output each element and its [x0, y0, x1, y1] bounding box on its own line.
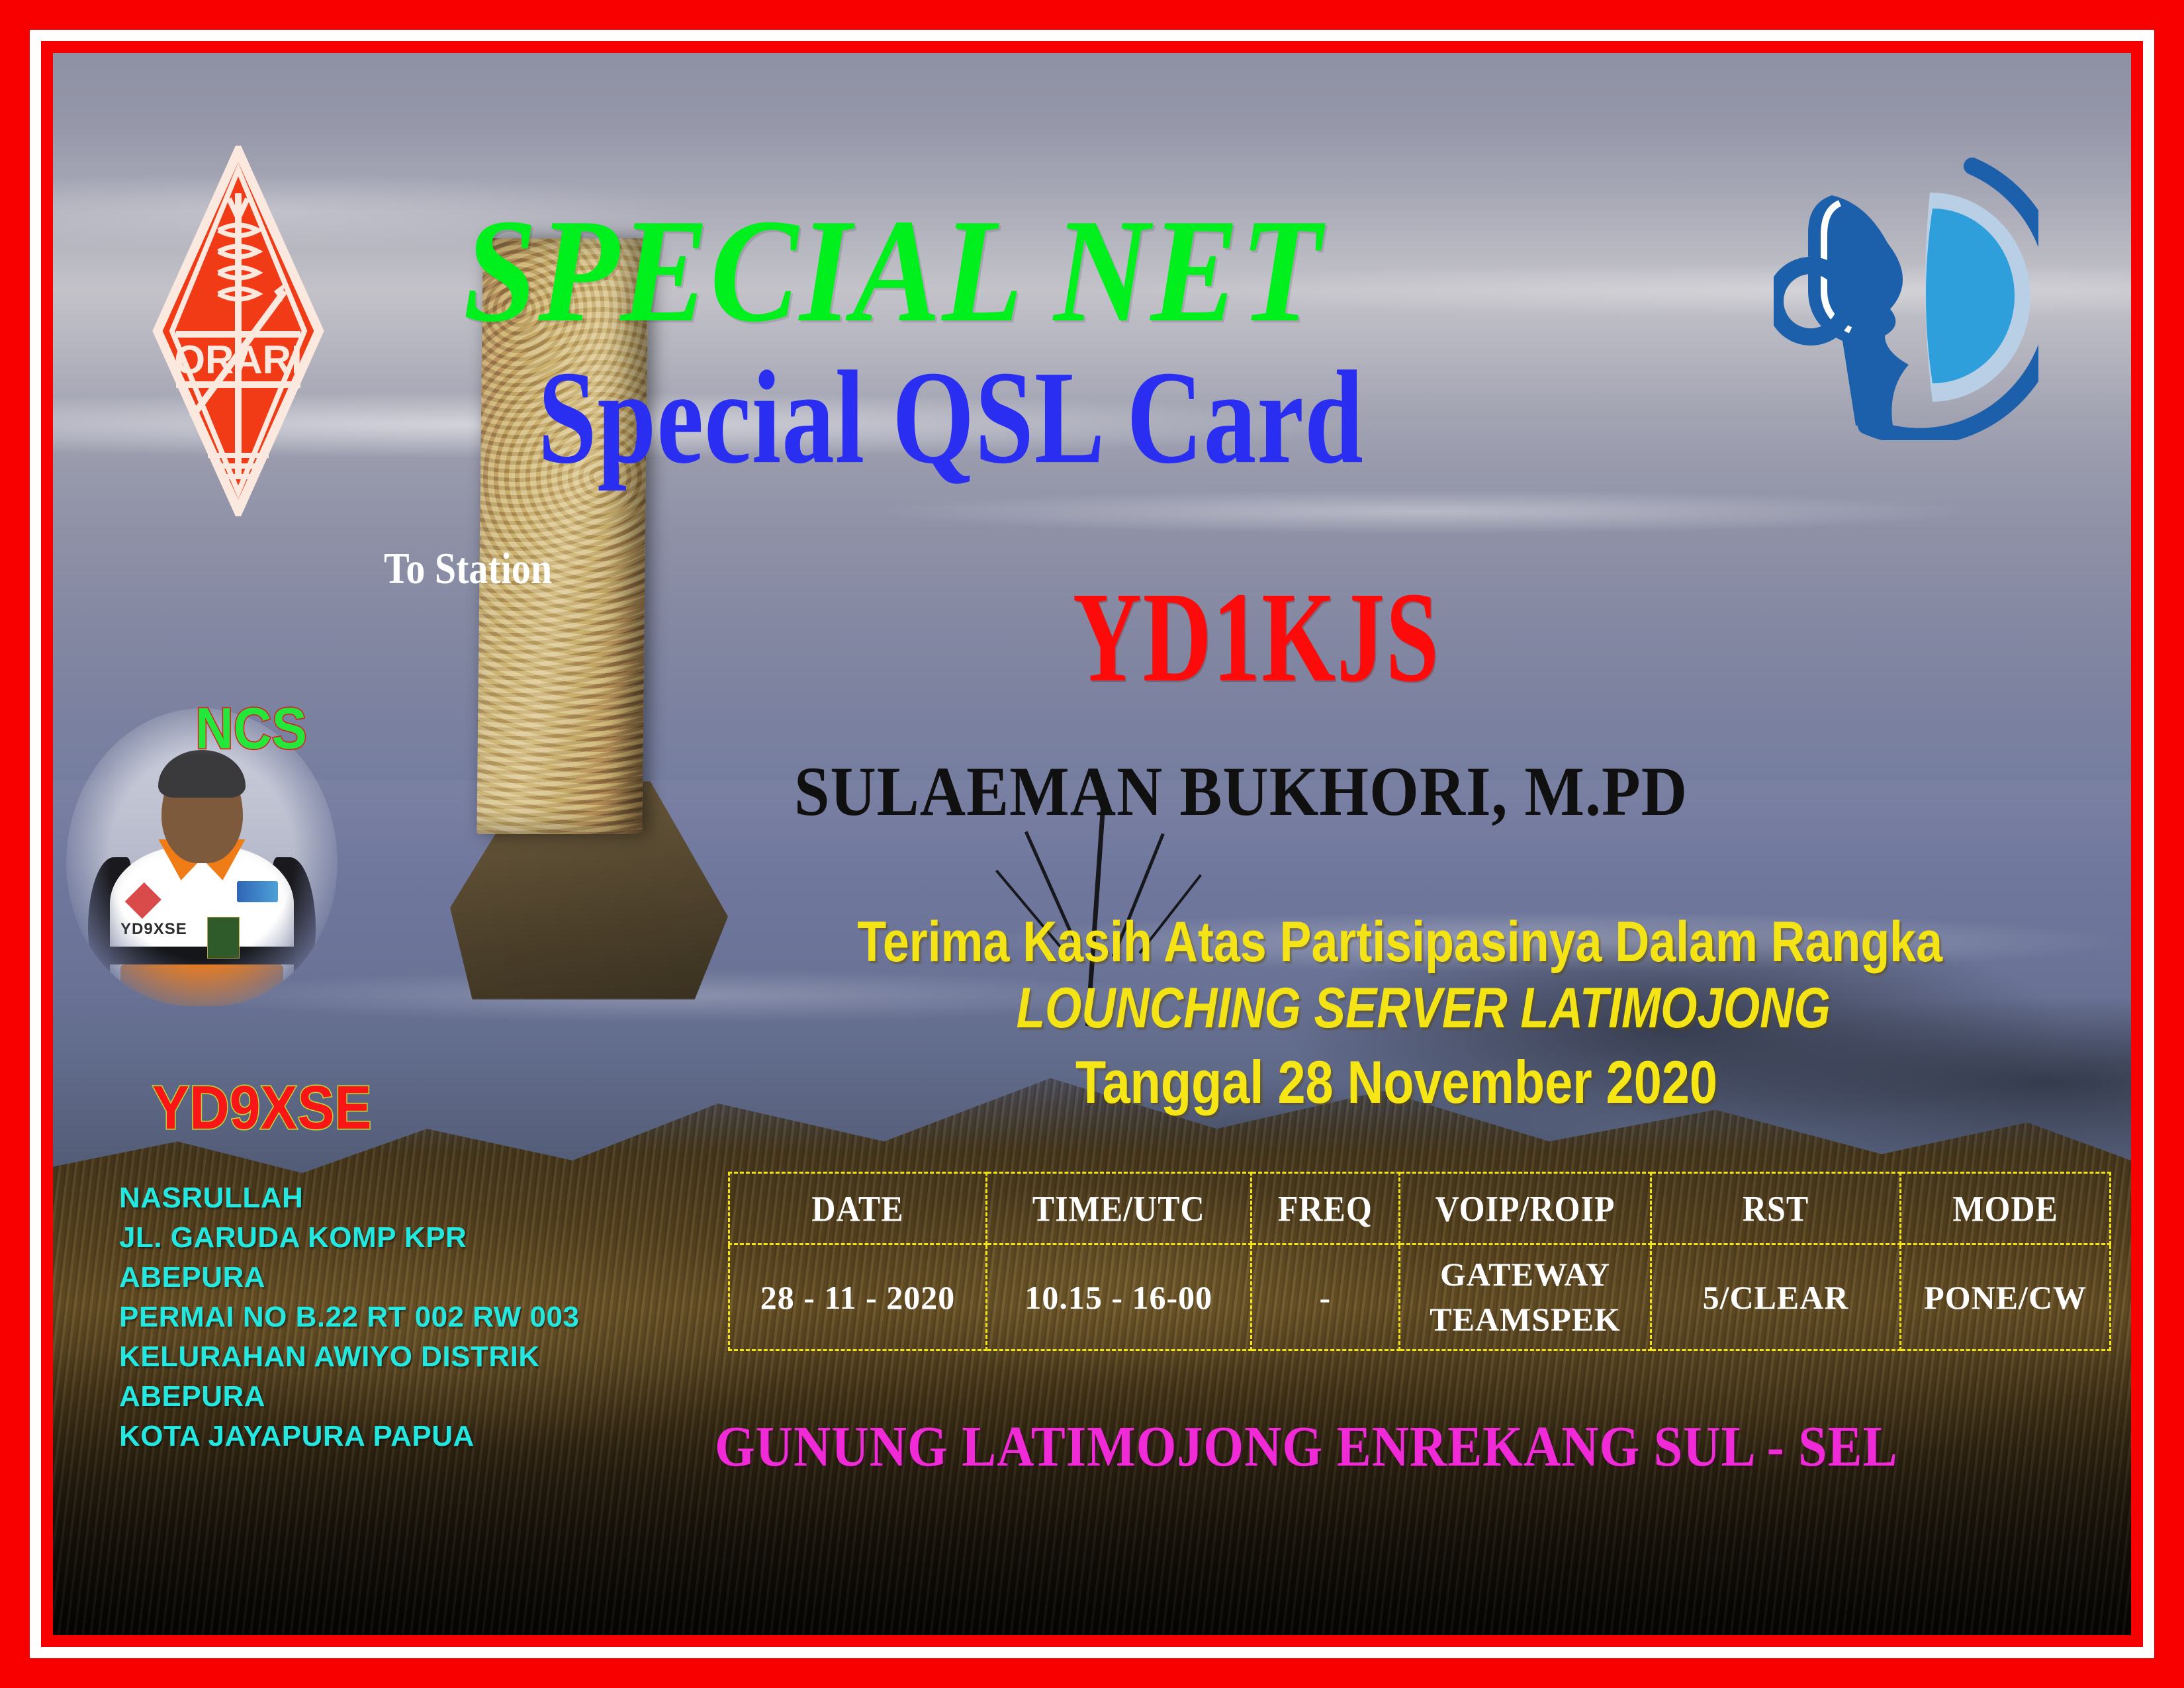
cell-date: 28 - 11 - 2020 [729, 1244, 987, 1350]
cell-voip-line1: GATEWAY [1400, 1252, 1650, 1297]
card-photo-area: ORARI [53, 53, 2131, 1635]
column-header-time: TIME/UTC [987, 1169, 1251, 1248]
location-caption: GUNUNG LATIMOJONG ENREKANG SUL - SEL [715, 1413, 1898, 1480]
cell-mode: PONE/CW [1901, 1244, 2111, 1350]
orari-logo-text: ORARI [174, 338, 302, 382]
column-header-mode: MODE [1901, 1169, 2111, 1248]
motto-text: "AMATIR RADIO ADALAH PROGRESIVE" [153, 1630, 1153, 1635]
thanks-line-1: Terima Kasih Atas Partisipasinya Dalam R… [857, 909, 1942, 974]
address-line: NASRULLAH [119, 1178, 579, 1218]
address-line: ABEPURA [119, 1258, 579, 1297]
qso-log-table: DATE TIME/UTC FREQ VOIP/ROIP RST MODE 28… [728, 1172, 2111, 1351]
cell-rst: 5/CLEAR [1651, 1244, 1900, 1350]
thanks-line-3-date: Tanggal 28 November 2020 [1075, 1048, 1717, 1118]
column-header-voip: VOIP/ROIP [1400, 1169, 1651, 1248]
mailing-address-block: NASRULLAH JL. GARUDA KOMP KPR ABEPURA PE… [119, 1178, 579, 1456]
thanks-line-2-event: LOUNCHING SERVER LATIMOJONG [1017, 975, 1831, 1041]
column-header-freq: FREQ [1251, 1169, 1400, 1248]
operator-name: SULAEMAN BUKHORI, M.PD [794, 751, 1688, 831]
address-line: ABEPURA [119, 1377, 579, 1417]
ncs-label: NCS [195, 695, 307, 762]
headset-profile-logo-icon [1774, 156, 2038, 440]
page-title-special-net: SPECIAL NET [463, 186, 1322, 355]
to-station-label: To Station [384, 543, 552, 594]
orari-logo-icon: ORARI [152, 146, 324, 516]
cell-voip: GATEWAY TEAMSPEK [1400, 1244, 1651, 1350]
cell-voip-line2: TEAMSPEK [1400, 1297, 1650, 1342]
address-line: KOTA JAYAPURA PAPUA [119, 1417, 579, 1456]
qsl-card: ORARI [0, 0, 2184, 1688]
recipient-callsign: YD1KJS [1073, 563, 1440, 712]
column-header-date: DATE [729, 1169, 987, 1248]
portrait-uniform-callsign: YD9XSE [120, 920, 187, 939]
cell-time: 10.15 - 16-00 [987, 1244, 1251, 1350]
ncs-callsign: YD9XSE [152, 1072, 372, 1143]
address-line: JL. GARUDA KOMP KPR [119, 1218, 579, 1258]
table-row: 28 - 11 - 2020 10.15 - 16-00 - GATEWAY T… [729, 1244, 2111, 1350]
column-header-rst: RST [1651, 1169, 1900, 1248]
address-line: KELURAHAN AWIYO DISTRIK [119, 1337, 579, 1377]
page-subtitle-special-qsl: Special QSL Card [538, 342, 1364, 495]
cell-freq: - [1251, 1244, 1400, 1350]
address-line: PERMAI NO B.22 RT 002 RW 003 [119, 1297, 579, 1337]
table-header-row: DATE TIME/UTC FREQ VOIP/ROIP RST MODE [729, 1173, 2111, 1244]
website-address: Address : amatir.latimojong.com [1338, 1626, 2050, 1635]
